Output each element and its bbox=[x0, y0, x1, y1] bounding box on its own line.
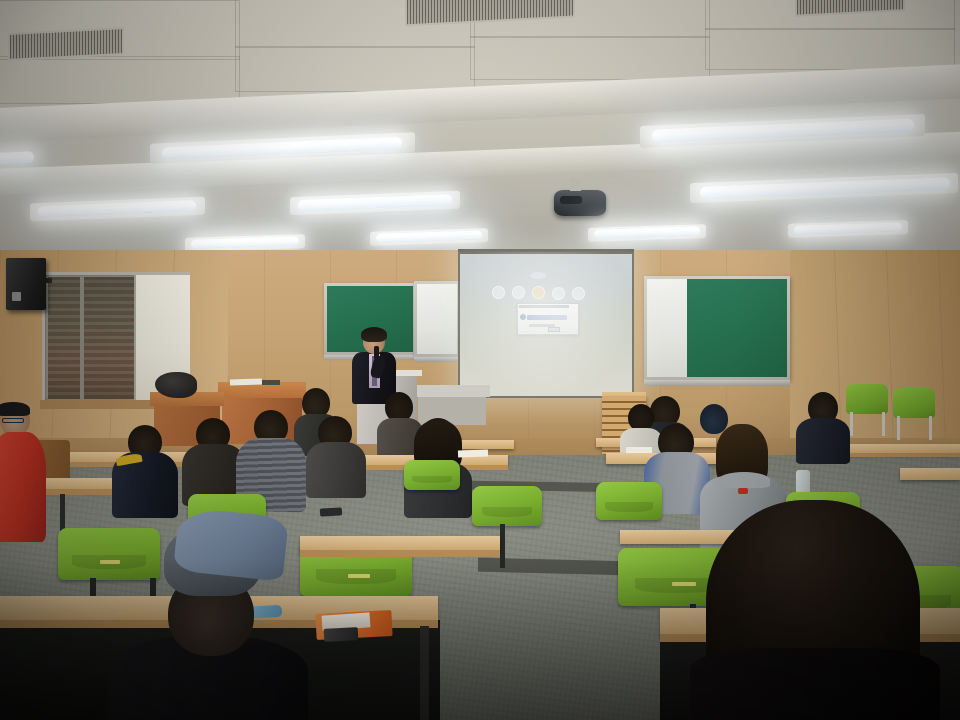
student-desk bbox=[900, 468, 960, 480]
student-chair bbox=[472, 486, 542, 526]
glasses-icon bbox=[2, 418, 24, 423]
whiteboard-surface-right bbox=[647, 279, 687, 377]
dark-object bbox=[262, 380, 280, 385]
presenter-hair bbox=[361, 327, 387, 342]
whiteboard-surface bbox=[417, 284, 457, 354]
whiteboard-panel bbox=[414, 281, 460, 357]
ceiling-mounted-projector bbox=[554, 190, 606, 216]
person-denim-jacket bbox=[173, 506, 289, 581]
person-suit-right bbox=[796, 418, 850, 464]
student-chair bbox=[404, 460, 460, 490]
person-white-shirt bbox=[628, 404, 654, 431]
hoodie-hood bbox=[718, 472, 770, 488]
front-table-top bbox=[414, 385, 490, 397]
person-red-jacket bbox=[0, 432, 46, 542]
person-body bbox=[306, 442, 366, 498]
window-exterior-brick bbox=[48, 277, 134, 399]
handheld-microphone bbox=[374, 346, 379, 360]
student-chair bbox=[596, 482, 662, 520]
window-mullion bbox=[80, 277, 84, 399]
cap-icon bbox=[0, 402, 30, 416]
student-chair bbox=[58, 528, 160, 580]
black-bag bbox=[155, 372, 197, 398]
chalkboard-surface-right bbox=[687, 279, 787, 377]
papers bbox=[458, 449, 488, 457]
smartphone bbox=[324, 627, 359, 642]
green-chalkboard-right bbox=[644, 276, 790, 380]
screen-glare bbox=[458, 252, 634, 398]
papers bbox=[626, 447, 652, 453]
person-body bbox=[690, 648, 940, 720]
hoodie-logo bbox=[738, 488, 748, 494]
wall-mounted-speaker bbox=[6, 258, 46, 310]
fluorescent-tube bbox=[0, 151, 34, 165]
smartphone bbox=[320, 507, 342, 516]
papers bbox=[230, 378, 262, 385]
lecture-hall-photo bbox=[0, 0, 960, 720]
